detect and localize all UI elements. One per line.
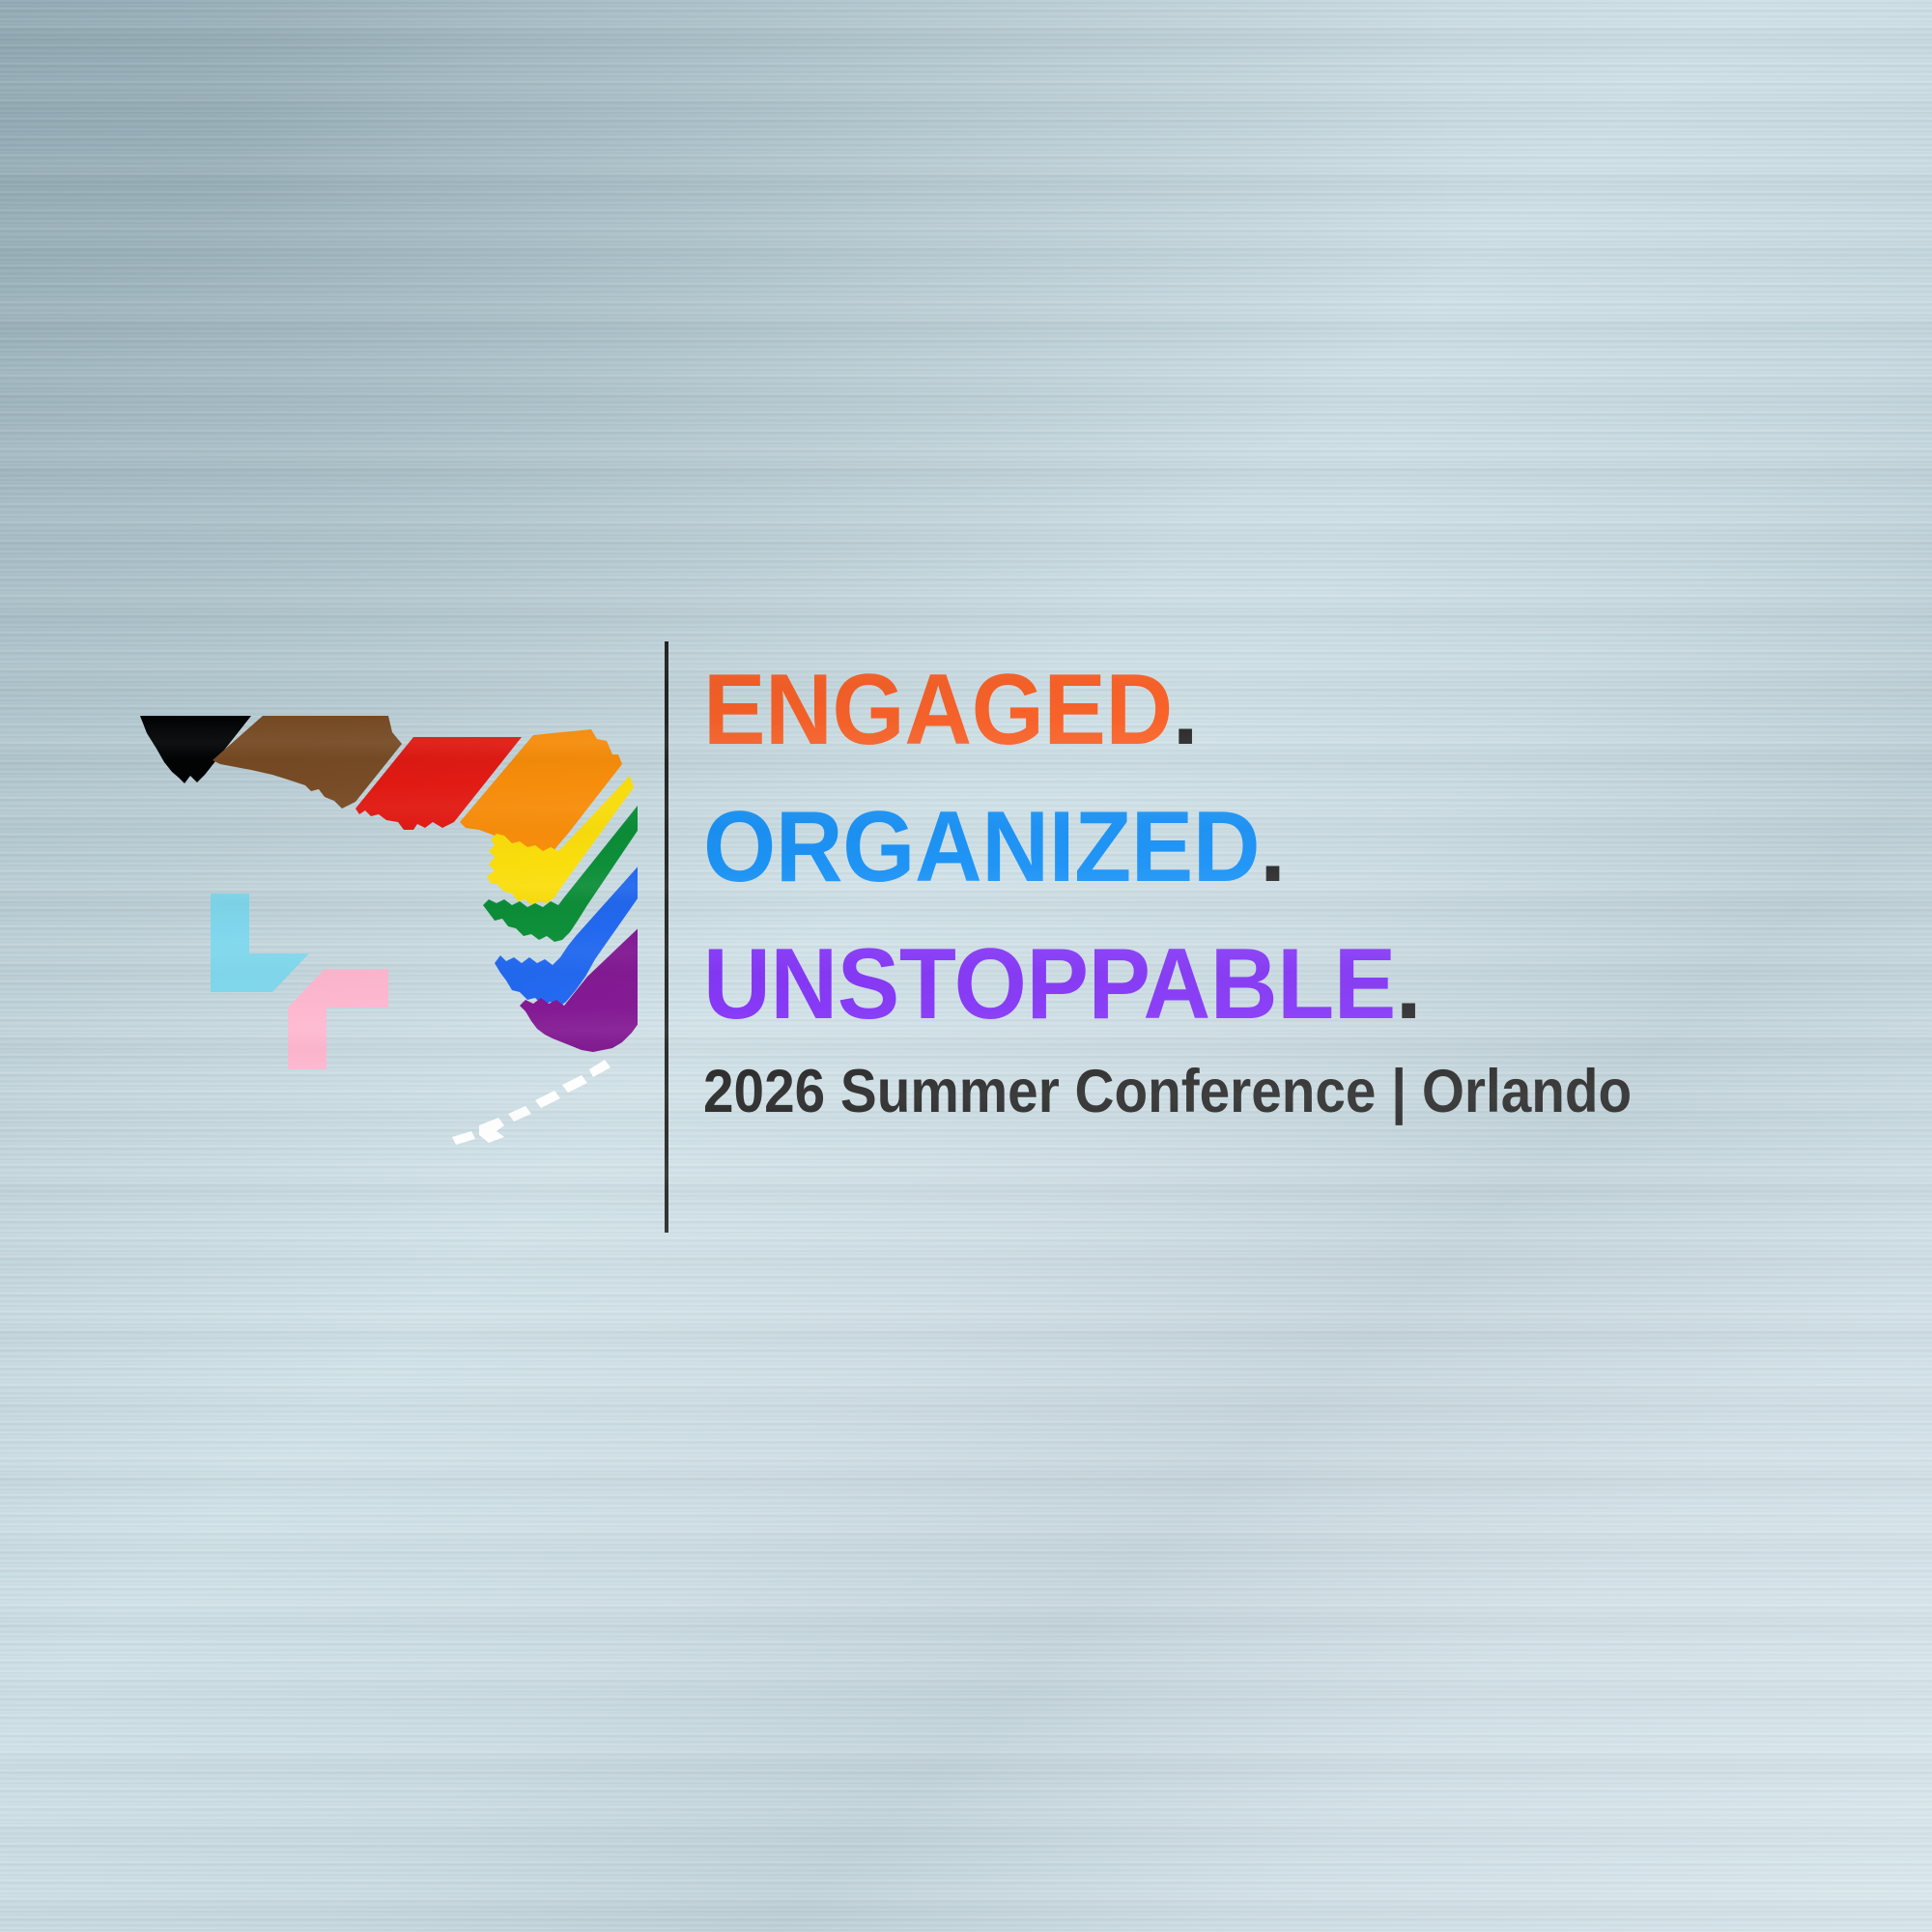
trans-pride-plus-icon — [211, 894, 388, 1069]
headline-line-engaged: ENGAGED. — [703, 663, 1530, 759]
headline-line-unstoppable: UNSTOPPABLE. — [703, 937, 1530, 1034]
conference-tagline: 2026 Summer Conference | Orlando — [703, 1062, 1503, 1122]
headline-period-unstoppable: . — [1396, 928, 1421, 1040]
plus-pink-arm — [288, 969, 388, 1069]
plus-light-blue-arm — [211, 894, 309, 992]
conference-logo-lockup: ENGAGED. ORGANIZED. UNSTOPPABLE. 2026 Su… — [135, 638, 1584, 1256]
wordmark: ENGAGED. ORGANIZED. UNSTOPPABLE. 2026 Su… — [703, 638, 1592, 1122]
vertical-divider — [665, 641, 668, 1233]
florida-progress-pride-map — [135, 700, 638, 1222]
headline-period-organized: . — [1260, 791, 1285, 903]
headline-period-engaged: . — [1173, 654, 1198, 766]
headline-line-organized: ORGANIZED. — [703, 800, 1530, 896]
headline-word-engaged: ENGAGED — [703, 654, 1173, 766]
headline-word-unstoppable: UNSTOPPABLE — [703, 928, 1396, 1040]
headline-word-organized: ORGANIZED — [703, 791, 1260, 903]
florida-keys — [452, 1060, 611, 1145]
brushed-metal-background: ENGAGED. ORGANIZED. UNSTOPPABLE. 2026 Su… — [0, 0, 1932, 1932]
